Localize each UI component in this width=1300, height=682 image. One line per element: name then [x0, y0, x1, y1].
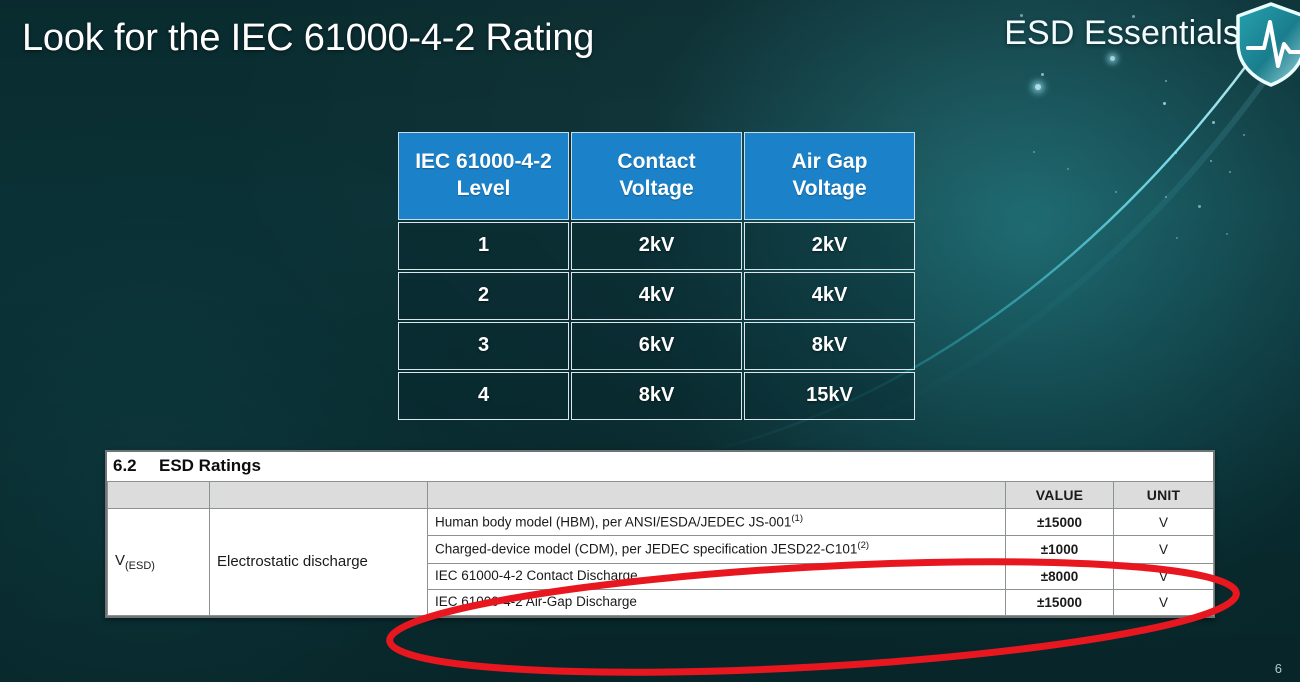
- iec-cell-airgap: 2kV: [744, 222, 915, 270]
- datasheet-header-unit: UNIT: [1114, 482, 1214, 509]
- page-number: 6: [1275, 661, 1282, 676]
- iec-header-air-gap-voltage: Air Gap Voltage: [744, 132, 915, 220]
- datasheet-header-blank-3: [428, 482, 1006, 509]
- datasheet-unit: V: [1114, 563, 1214, 589]
- datasheet-value: ±1000: [1006, 536, 1114, 563]
- iec-cell-airgap: 8kV: [744, 322, 915, 370]
- iec-cell-contact: 2kV: [571, 222, 742, 270]
- brand-label: ESD Essentials: [1004, 14, 1240, 53]
- datasheet-unit: V: [1114, 536, 1214, 563]
- table-row: 1 2kV 2kV: [398, 222, 915, 270]
- slide-canvas: Look for the IEC 61000-4-2 Rating ESD Es…: [0, 0, 1300, 682]
- datasheet-parameter-name: Electrostatic discharge: [210, 509, 428, 616]
- iec-cell-level: 2: [398, 272, 569, 320]
- iec-cell-contact: 8kV: [571, 372, 742, 420]
- datasheet-header-blank-2: [210, 482, 428, 509]
- iec-cell-contact: 4kV: [571, 272, 742, 320]
- datasheet-header-row: VALUE UNIT: [108, 482, 1214, 509]
- footnote-marker: (2): [857, 540, 869, 551]
- datasheet-condition: IEC 61000-4-2 Contact Discharge: [428, 563, 1006, 589]
- section-number: 6.2: [113, 456, 159, 476]
- iec-cell-airgap: 4kV: [744, 272, 915, 320]
- datasheet-value: ±15000: [1006, 509, 1114, 536]
- datasheet-header-value: VALUE: [1006, 482, 1114, 509]
- iec-header-level: IEC 61000-4-2 Level: [398, 132, 569, 220]
- datasheet-table: VALUE UNIT V(ESD) Electrostatic discharg…: [107, 481, 1214, 616]
- shield-heartbeat-icon: [1234, 0, 1300, 88]
- iec-cell-airgap: 15kV: [744, 372, 915, 420]
- datasheet-section-heading: 6.2ESD Ratings: [107, 452, 1213, 481]
- datasheet-symbol-vesd: V(ESD): [108, 509, 210, 616]
- section-title: ESD Ratings: [159, 456, 261, 475]
- table-row: 2 4kV 4kV: [398, 272, 915, 320]
- datasheet-condition: Charged-device model (CDM), per JEDEC sp…: [428, 536, 1006, 563]
- datasheet-unit: V: [1114, 509, 1214, 536]
- datasheet-value: ±15000: [1006, 589, 1114, 615]
- datasheet-condition: Human body model (HBM), per ANSI/ESDA/JE…: [428, 509, 1006, 536]
- datasheet-header-blank-1: [108, 482, 210, 509]
- datasheet-unit: V: [1114, 589, 1214, 615]
- iec-table-header-row: IEC 61000-4-2 Level Contact Voltage Air …: [398, 132, 915, 220]
- datasheet-value: ±8000: [1006, 563, 1114, 589]
- iec-header-contact-voltage: Contact Voltage: [571, 132, 742, 220]
- iec-cell-level: 4: [398, 372, 569, 420]
- datasheet-condition: IEC 61000-4-2 Air-Gap Discharge: [428, 589, 1006, 615]
- iec-cell-level: 3: [398, 322, 569, 370]
- table-row: V(ESD) Electrostatic discharge Human bod…: [108, 509, 1214, 536]
- iec-cell-level: 1: [398, 222, 569, 270]
- iec-cell-contact: 6kV: [571, 322, 742, 370]
- footnote-marker: (1): [791, 513, 803, 524]
- table-row: 3 6kV 8kV: [398, 322, 915, 370]
- page-title: Look for the IEC 61000-4-2 Rating: [22, 17, 594, 60]
- datasheet-esd-ratings: 6.2ESD Ratings VALUE UNIT V(ESD) Electro…: [105, 450, 1215, 618]
- iec-level-table: IEC 61000-4-2 Level Contact Voltage Air …: [396, 130, 917, 422]
- table-row: 4 8kV 15kV: [398, 372, 915, 420]
